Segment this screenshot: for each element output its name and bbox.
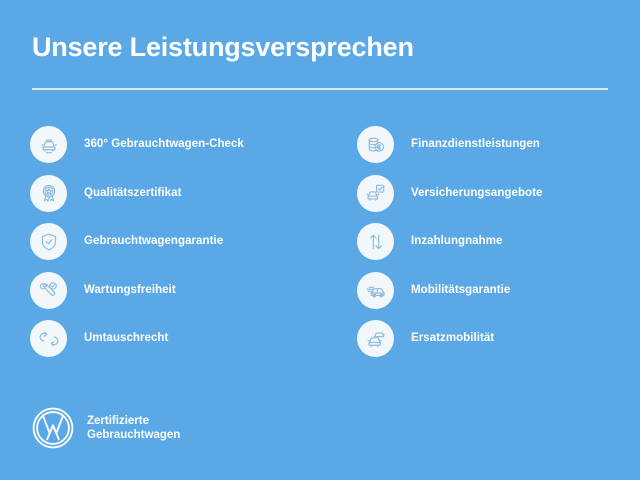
benefit-item-mobility-guarantee[interactable]: Mobilitätsgarantie: [357, 272, 627, 321]
benefits-left-column: 360° Gebrauchtwagen-Check Qualitätszerti…: [30, 126, 300, 369]
benefit-label: Versicherungsangebote: [411, 175, 542, 212]
footer-line-1: Zertifizierte: [87, 414, 180, 428]
benefit-label: Ersatzmobilität: [411, 320, 494, 357]
wrench-check-icon: [30, 272, 67, 309]
benefit-label: Gebrauchtwagengarantie: [84, 223, 223, 260]
title-divider: [32, 88, 608, 90]
award-rosette-icon: [30, 175, 67, 212]
footer-text: Zertifizierte Gebrauchtwagen: [87, 414, 180, 442]
arrows-up-down-icon: [357, 223, 394, 260]
benefit-item-warranty[interactable]: Gebrauchtwagengarantie: [30, 223, 300, 272]
shield-check-icon: [30, 223, 67, 260]
benefit-item-quality-certificate[interactable]: Qualitätszertifikat: [30, 175, 300, 224]
two-cars-icon: [357, 320, 394, 357]
benefit-label: Mobilitätsgarantie: [411, 272, 510, 309]
car-inspection-icon: [30, 126, 67, 163]
footer-line-2: Gebrauchtwagen: [87, 428, 180, 442]
benefit-label: Qualitätszertifikat: [84, 175, 181, 212]
benefit-label: Finanzdienstleistungen: [411, 126, 540, 163]
page-title: Unsere Leistungsversprechen: [32, 33, 414, 63]
benefits-poster: Unsere Leistungsversprechen 360° Gebrauc…: [0, 0, 640, 480]
volkswagen-logo: [31, 406, 75, 450]
benefit-item-financial-services[interactable]: Finanzdienstleistungen: [357, 126, 627, 175]
coins-euro-icon: [357, 126, 394, 163]
benefit-item-360-check[interactable]: 360° Gebrauchtwagen-Check: [30, 126, 300, 175]
exchange-arrows-icon: [30, 320, 67, 357]
benefit-label: Umtauschrecht: [84, 320, 168, 357]
volkswagen-certified-lockup: Zertifizierte Gebrauchtwagen: [31, 406, 180, 450]
benefit-item-insurance-offers[interactable]: Versicherungsangebote: [357, 175, 627, 224]
benefit-label: Inzahlungnahme: [411, 223, 502, 260]
benefit-label: 360° Gebrauchtwagen-Check: [84, 126, 244, 163]
benefit-item-replacement-mobility[interactable]: Ersatzmobilität: [357, 320, 627, 369]
benefits-right-column: Finanzdienstleistungen Versicherungsange…: [357, 126, 627, 369]
benefit-item-exchange-right[interactable]: Umtauschrecht: [30, 320, 300, 369]
benefit-item-maintenance-free[interactable]: Wartungsfreiheit: [30, 272, 300, 321]
car-document-icon: [357, 175, 394, 212]
benefit-item-trade-in[interactable]: Inzahlungnahme: [357, 223, 627, 272]
benefit-label: Wartungsfreiheit: [84, 272, 176, 309]
car-motion-icon: [357, 272, 394, 309]
